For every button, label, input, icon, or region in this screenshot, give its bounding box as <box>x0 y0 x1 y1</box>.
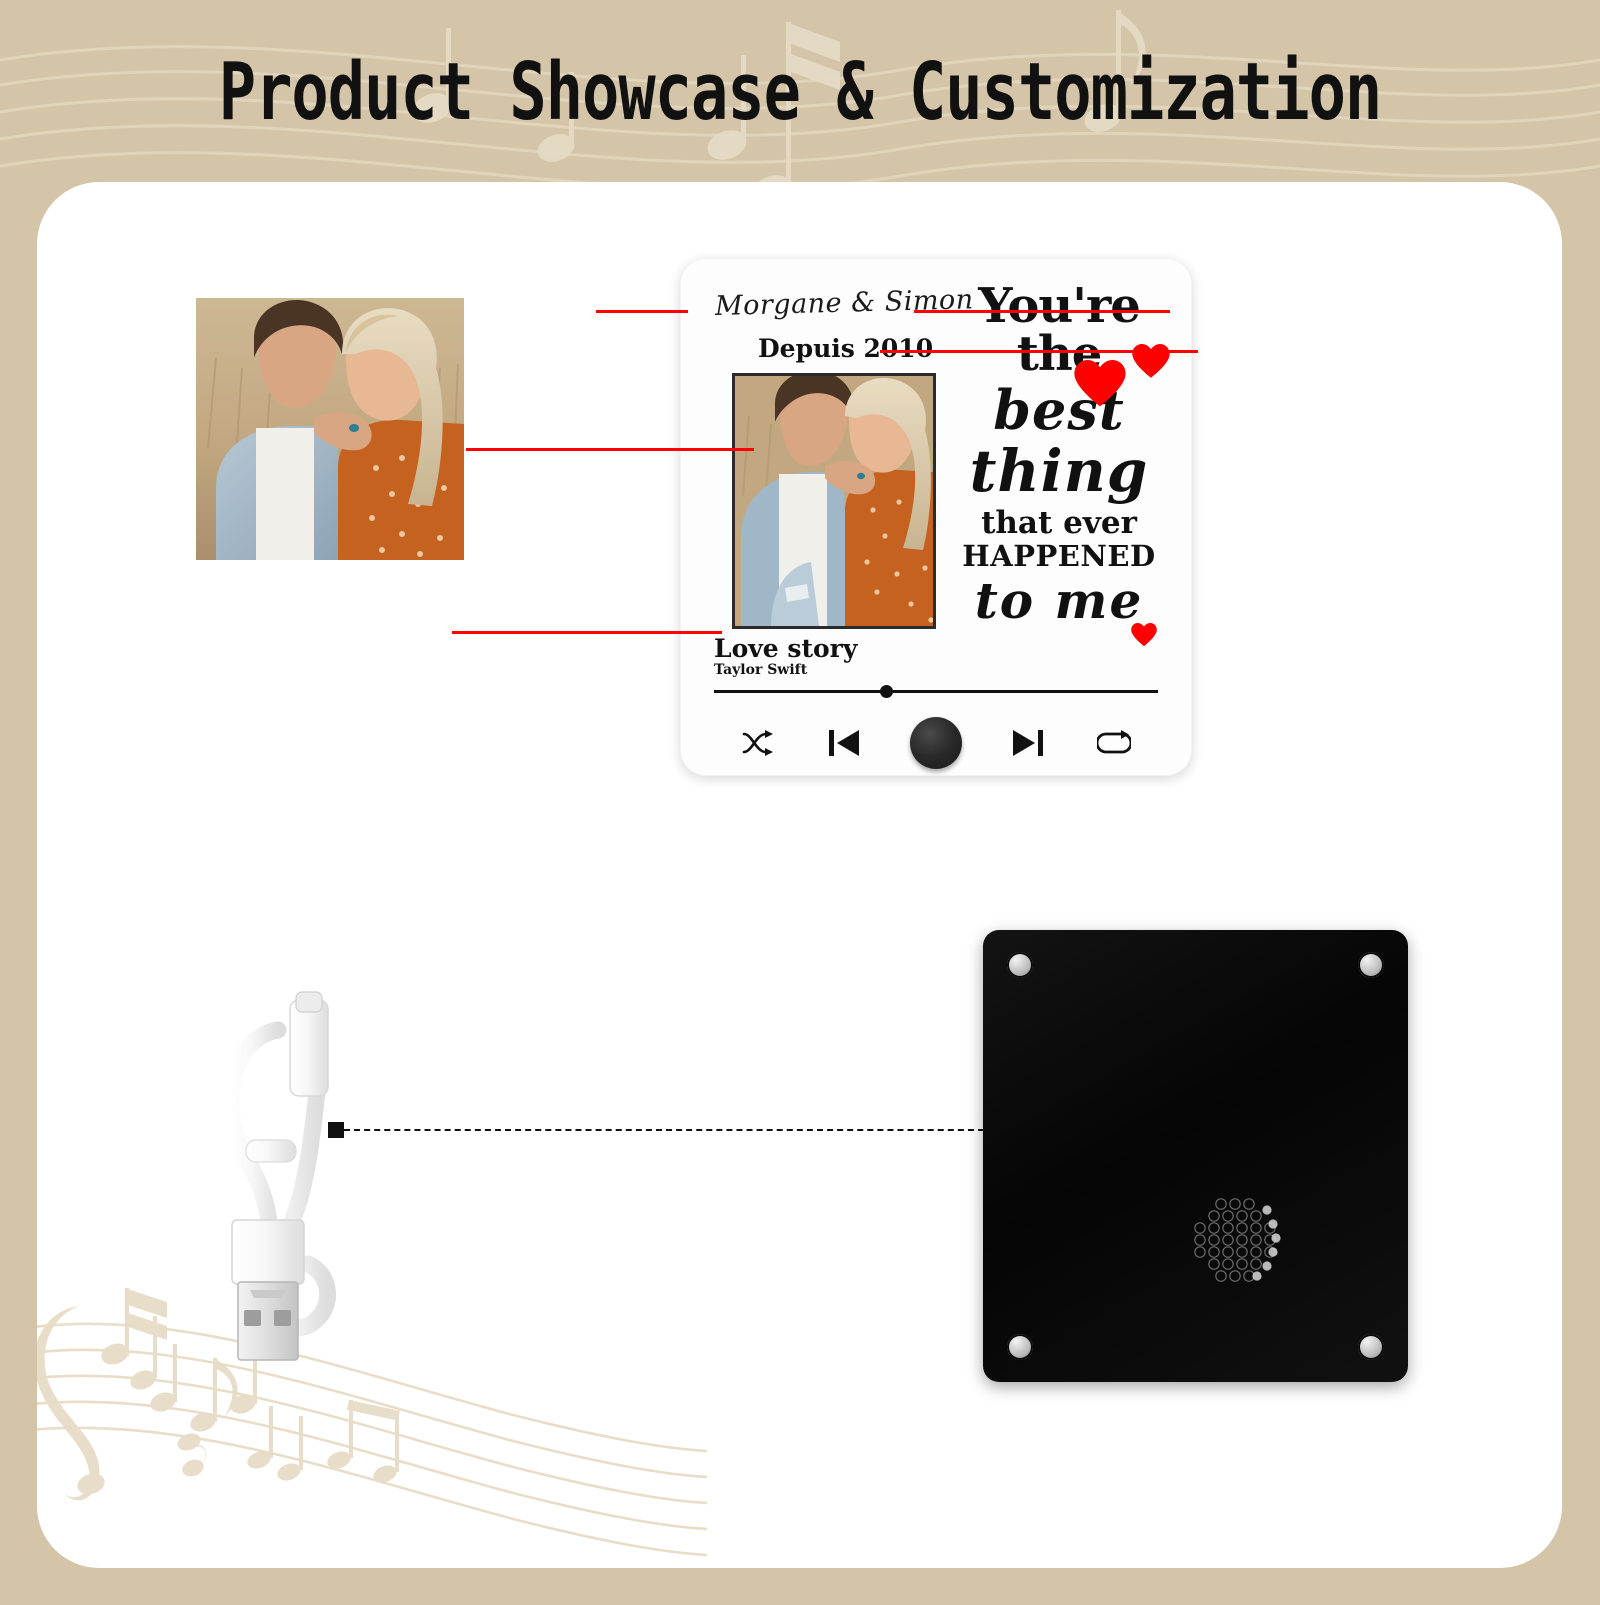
magnet-screw-bottom-right <box>1358 1334 1384 1360</box>
song-artist: Taylor Swift <box>714 662 807 678</box>
custom-date-text: Depuis 2010 <box>758 334 933 363</box>
speaker-grille <box>1183 1188 1287 1297</box>
leader-line-name2 <box>914 310 1170 313</box>
product-back-panel <box>983 930 1408 1382</box>
heart-icon-large <box>1074 360 1126 413</box>
leader-line-date <box>880 350 1198 353</box>
play-button[interactable] <box>910 717 962 769</box>
next-icon[interactable] <box>1008 723 1048 763</box>
leader-line-name1 <box>596 310 688 313</box>
quote-line-4: that ever <box>935 506 1183 540</box>
leader-line-custom-photo <box>466 448 754 451</box>
charging-port-marker <box>328 1122 344 1138</box>
custom-name-text: Morgane & Simon <box>715 285 946 322</box>
product-front-panel: Morgane & Simon Depuis 2010 <box>680 258 1192 776</box>
quote-line-3: thing <box>935 441 1183 502</box>
leader-line-charging-port <box>344 1129 984 1131</box>
custom-photo-thumbnail <box>732 373 936 629</box>
usb-cable-image <box>210 990 420 1380</box>
repeat-icon[interactable] <box>1094 723 1134 763</box>
progress-thumb[interactable] <box>880 685 893 698</box>
magnet-screw-top-right <box>1358 952 1384 978</box>
magnet-screw-bottom-left <box>1007 1334 1033 1360</box>
previous-icon[interactable] <box>824 723 864 763</box>
quote-line-6: to me <box>935 575 1183 628</box>
page-title: Product Showcase & Customization <box>219 44 1381 137</box>
custom-photo-large <box>196 298 464 560</box>
page-header: Product Showcase & Customization <box>0 0 1600 182</box>
leader-line-custom-music <box>452 631 722 634</box>
song-title: Love story <box>714 636 857 661</box>
magnet-screw-top-left <box>1007 952 1033 978</box>
quote-block: You're the best thing that ever HAPPENED… <box>935 282 1183 628</box>
heart-icon-tiny <box>1131 623 1157 652</box>
music-controls <box>714 708 1158 778</box>
quote-line-2: best <box>935 382 1183 439</box>
shuffle-icon[interactable] <box>738 723 778 763</box>
quote-line-5: HAPPENED <box>935 540 1183 573</box>
